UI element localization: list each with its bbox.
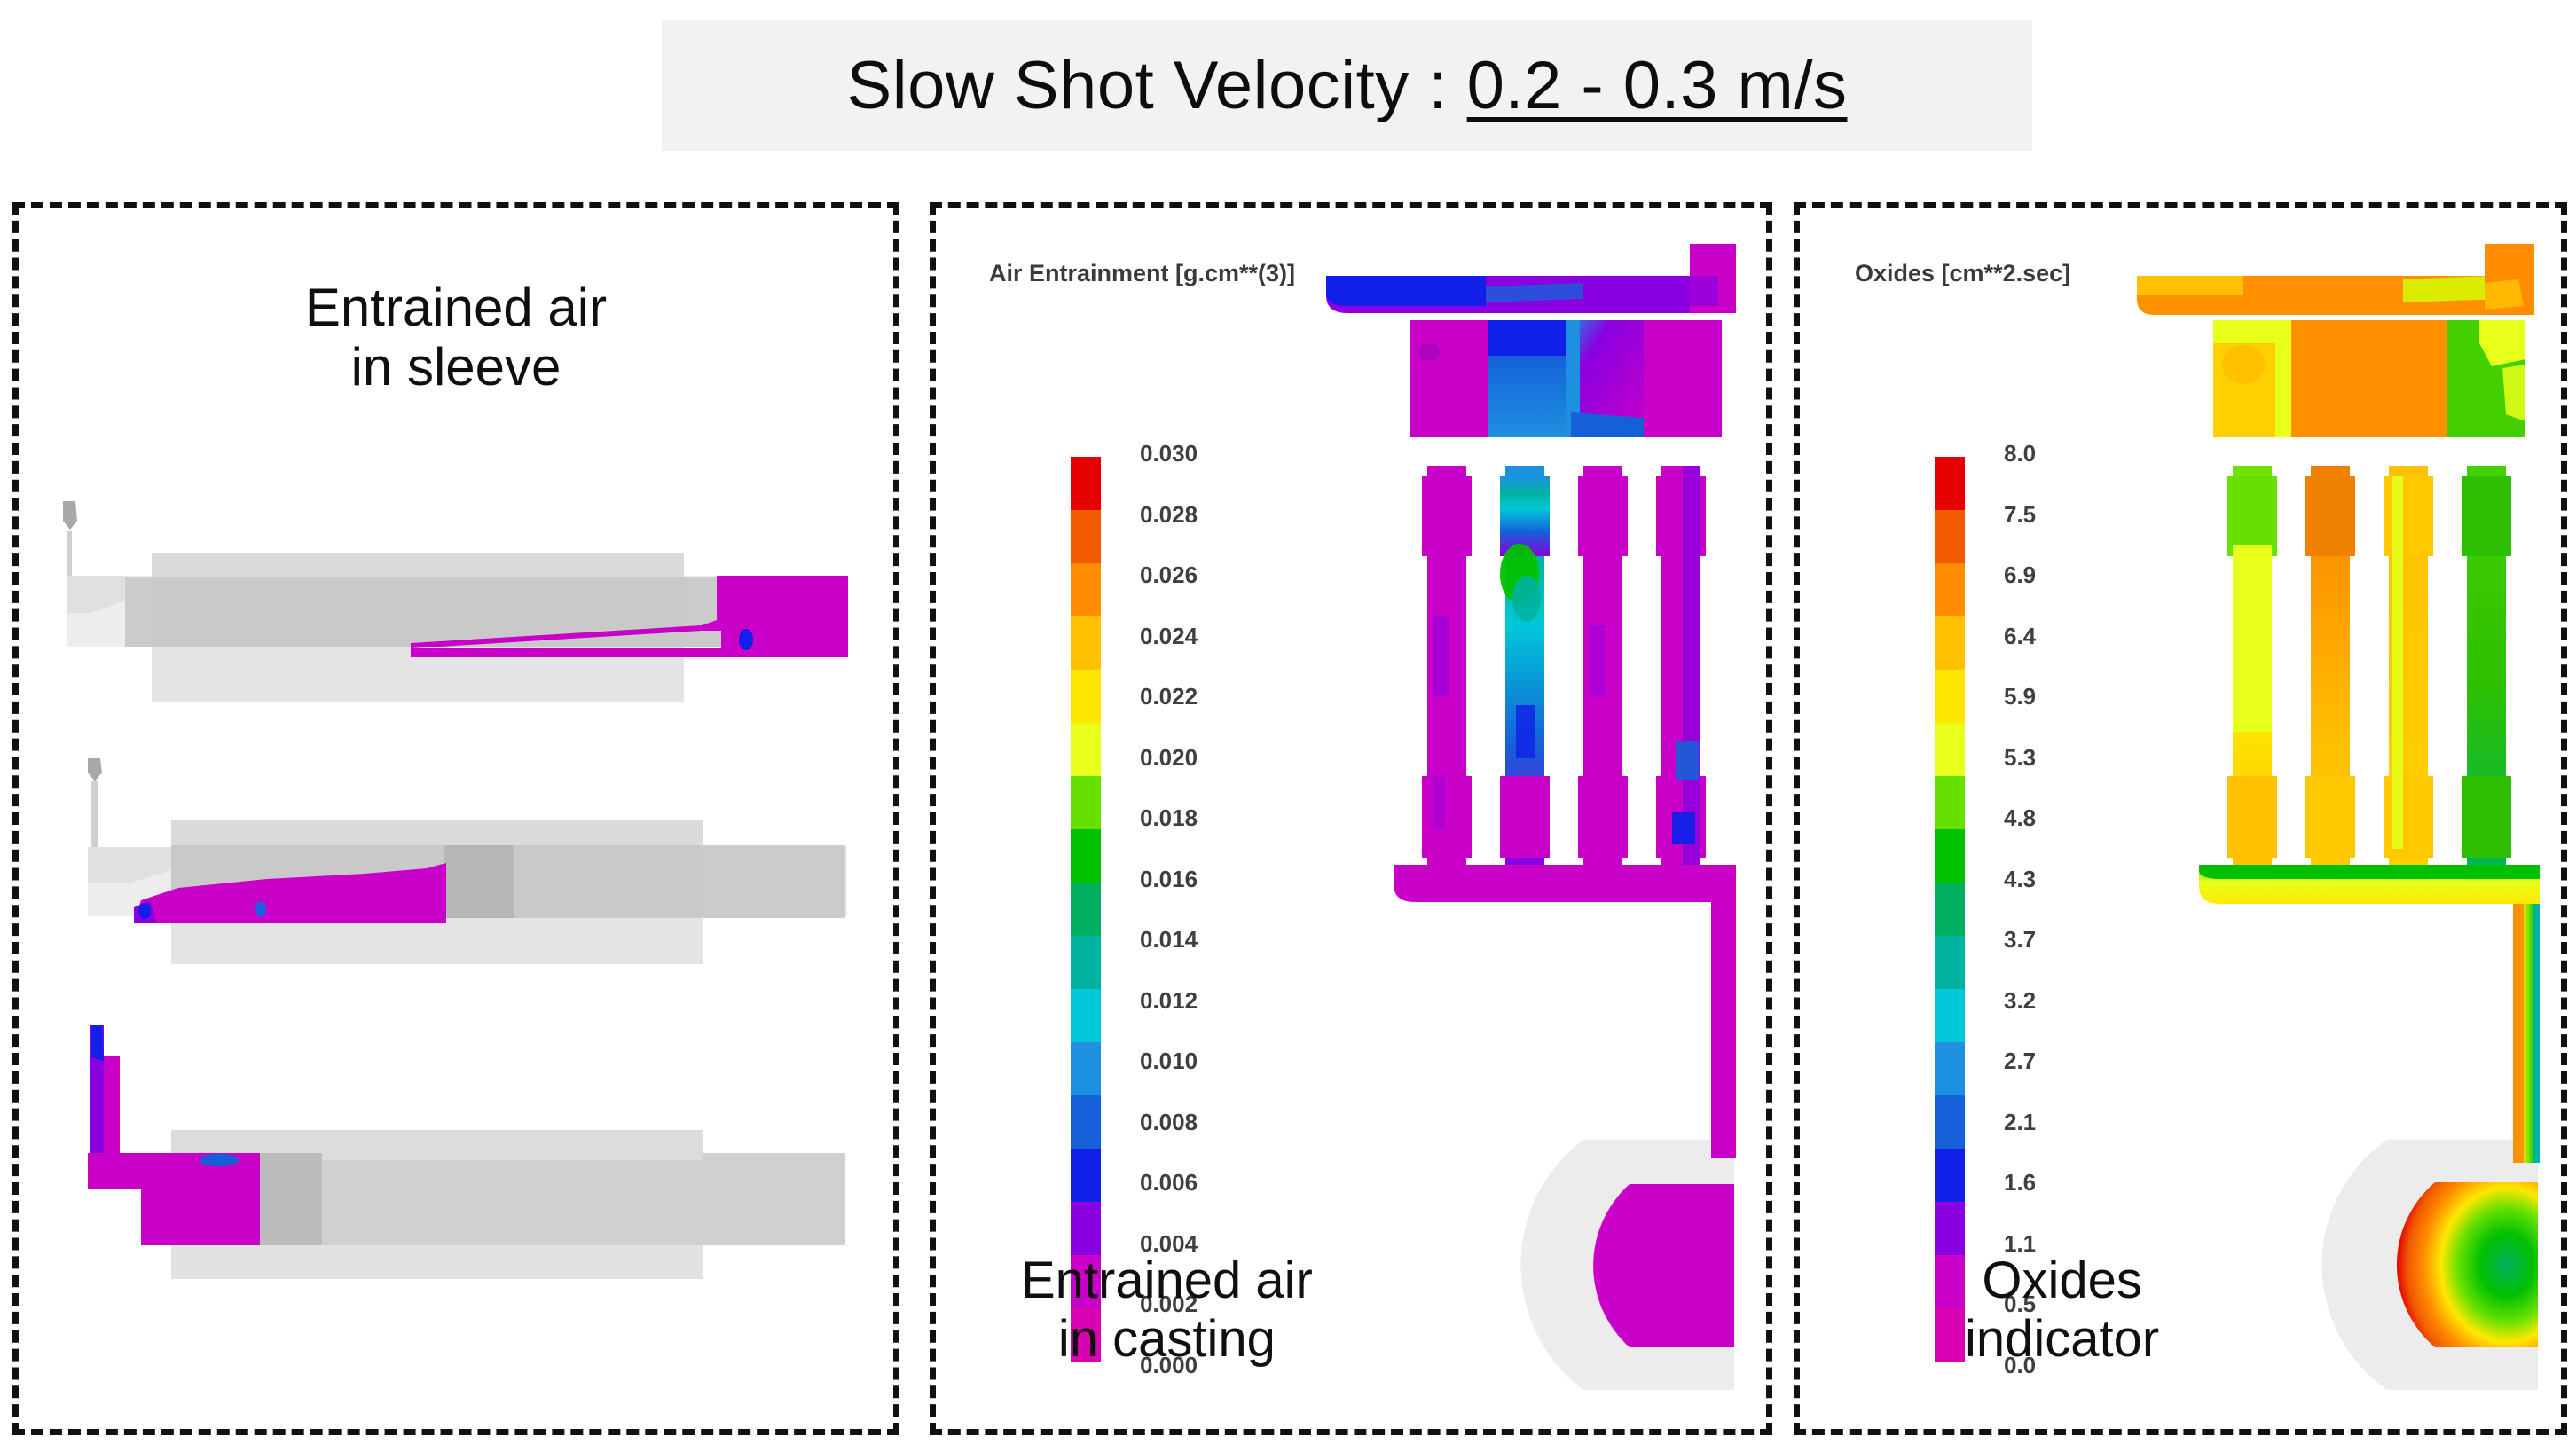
specimen-1: [1422, 466, 1472, 865]
tick-label: 0.018: [1140, 806, 1198, 829]
tick-label: 0.008: [1140, 1110, 1198, 1134]
oxide-caption-line2: indicator: [1965, 1310, 2159, 1369]
tick-label: 0.016: [1140, 867, 1198, 891]
vertical-runner: [1711, 865, 1736, 1158]
biscuit-oxides: [2397, 1182, 2538, 1347]
tick-label: 2.7: [2004, 1049, 2036, 1072]
tick-label: 6.9: [2004, 563, 2036, 586]
tick-label: 4.3: [2004, 867, 2036, 891]
ladle-spout-icon: [63, 501, 77, 530]
specimen-1: [2227, 466, 2277, 865]
air-pocket-marker: [200, 1154, 239, 1166]
oxide-caption-line1: Oxides: [1965, 1252, 2159, 1310]
gate-block-1: [1410, 320, 1488, 437]
tick-label: 0.014: [1140, 928, 1198, 951]
tick-label: 0.006: [1140, 1171, 1198, 1194]
ladle-spout-icon: [88, 758, 102, 781]
air-entrainment-casting-plot: [1317, 244, 1761, 1397]
specimen-2: [1500, 466, 1550, 865]
specimen-3: [2384, 466, 2433, 865]
gate-block-2: [2291, 320, 2369, 437]
tick-label: 0.026: [1140, 563, 1198, 586]
air-entrainment-tick-labels: 0.030 0.028 0.026 0.024 0.022 0.020 0.01…: [1140, 442, 1198, 1377]
tick-label: 7.5: [2004, 503, 2036, 526]
melt-region: [88, 1153, 260, 1245]
tick-label: 5.9: [2004, 685, 2036, 708]
tick-label: 2.1: [2004, 1110, 2036, 1134]
air-pocket-marker: [91, 1025, 104, 1061]
title-banner: Slow Shot Velocity : 0.2 - 0.3 m/s: [662, 20, 2032, 151]
tick-label: 0.020: [1140, 746, 1198, 769]
sleeve-view-stage-3: [45, 1020, 879, 1286]
specimen-4: [2462, 466, 2511, 865]
sleeve-view-stage-1: [45, 501, 879, 723]
air-caption-line1: Entrained air: [1021, 1252, 1313, 1310]
sleeve-caption: Entrained air in sleeve: [19, 278, 893, 396]
oxides-casting-plot: [2137, 244, 2554, 1397]
air-pocket-marker: [255, 901, 266, 917]
tick-label: 3.7: [2004, 928, 2036, 951]
air-pocket-marker: [138, 903, 151, 919]
oxides-color-scale: [1935, 457, 1965, 1362]
specimen-3: [1578, 466, 1628, 865]
tick-label: 5.3: [2004, 746, 2036, 769]
sleeve-view-stage-2: [45, 758, 879, 980]
tick-label: 0.022: [1140, 685, 1198, 708]
tick-label: 6.4: [2004, 624, 2036, 647]
figure-root: Slow Shot Velocity : 0.2 - 0.3 m/s Entra…: [0, 0, 2576, 1444]
tick-label: 8.0: [2004, 442, 2036, 465]
tick-label: 3.2: [2004, 989, 2036, 1012]
tick-label: 0.024: [1140, 624, 1198, 647]
panel-entrained-air-in-casting: Air Entrainment [g.cm**(3)]: [930, 202, 1772, 1435]
air-entrainment-colorbar: Air Entrainment [g.cm**(3)]: [989, 260, 1362, 1369]
air-entrainment-color-scale: [1071, 457, 1101, 1362]
panel-entrained-air-in-sleeve: Entrained air in sleeve: [12, 202, 899, 1435]
air-pocket-marker: [739, 629, 753, 650]
page-title: Slow Shot Velocity : 0.2 - 0.3 m/s: [847, 47, 1848, 124]
tick-label: 1.6: [2004, 1171, 2036, 1194]
oxides-legend-title: Oxides [cm**2.sec]: [1855, 260, 2070, 287]
air-caption-line2: in casting: [1021, 1310, 1313, 1369]
lower-runner: [1394, 865, 1736, 902]
sleeve-caption-line2: in sleeve: [19, 337, 893, 396]
oxides-tick-labels: 8.0 7.5 6.9 6.4 5.9 5.3 4.8 4.3 3.7 3.2 …: [2004, 442, 2036, 1377]
tick-label: 4.8: [2004, 806, 2036, 829]
panel-oxides-indicator: Oxides [cm**2.sec]: [1794, 202, 2567, 1435]
title-label: Slow Shot Velocity :: [847, 48, 1467, 123]
sleeve-caption-line1: Entrained air: [19, 278, 893, 337]
gate-block-4: [1644, 320, 1722, 437]
tick-label: 0.012: [1140, 989, 1198, 1012]
title-value: 0.2 - 0.3 m/s: [1467, 48, 1848, 123]
tick-label: 0.028: [1140, 503, 1198, 526]
specimen-2: [2305, 466, 2355, 865]
specimen-4: [1656, 466, 1706, 865]
tick-label: 0.010: [1140, 1049, 1198, 1072]
air-casting-caption: Entrained air in casting: [1021, 1252, 1313, 1369]
oxides-caption: Oxides indicator: [1965, 1252, 2159, 1369]
tick-label: 0.030: [1140, 442, 1198, 465]
gate-block-3: [2369, 320, 2447, 437]
biscuit-melt: [1593, 1184, 1734, 1347]
air-entrainment-legend-title: Air Entrainment [g.cm**(3)]: [989, 260, 1295, 287]
